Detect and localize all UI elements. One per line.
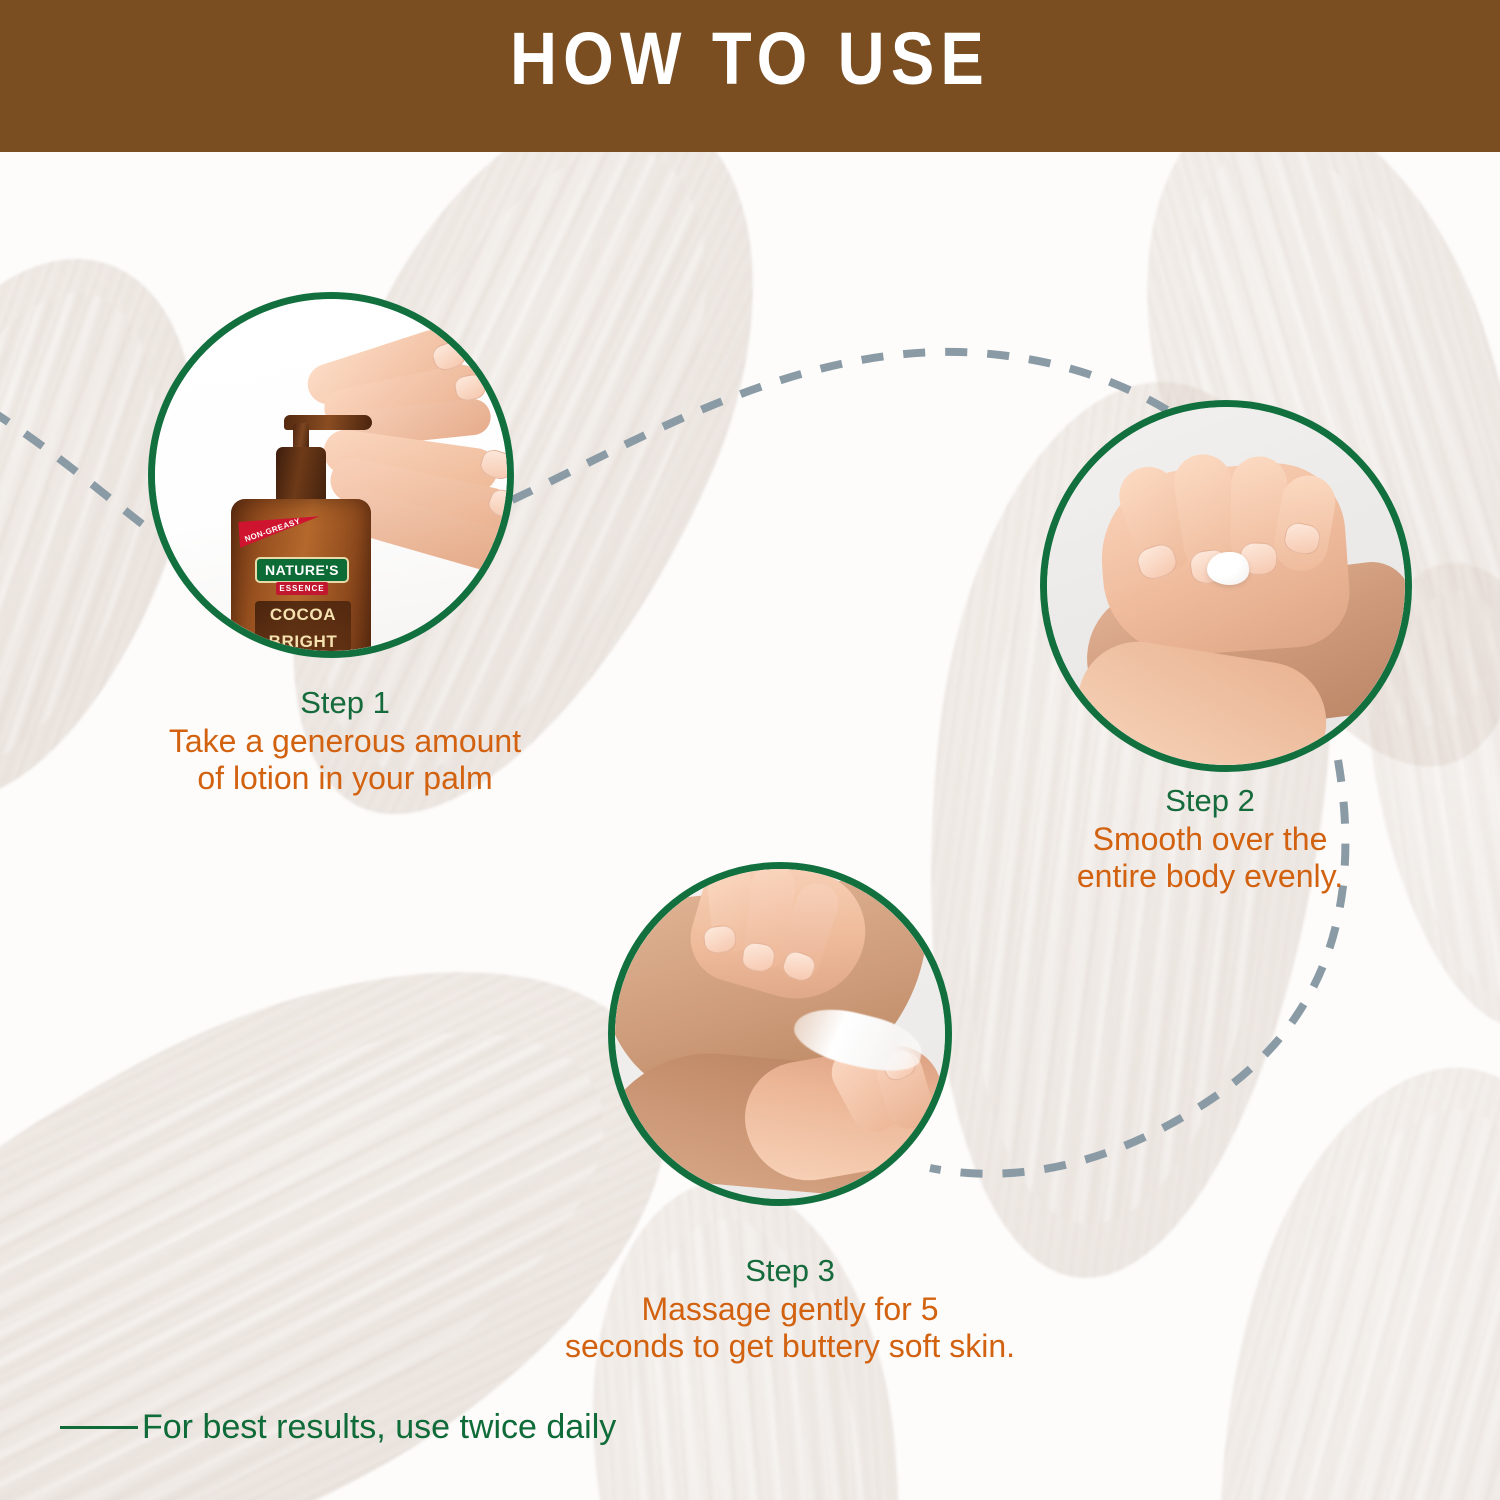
step-3-description-line-1: Massage gently for 5: [540, 1291, 1040, 1328]
step-3-description-line-2: seconds to get buttery soft skin.: [540, 1328, 1040, 1365]
step-1-caption: Step 1 Take a generous amount of lotion …: [110, 685, 580, 797]
step-2-photo: [1047, 407, 1405, 765]
product-name-line-1: COCOA: [255, 601, 351, 628]
step-3-image-circle: [608, 862, 952, 1206]
step-2-description-line-1: Smooth over the: [1020, 821, 1400, 858]
step-1-description-line-1: Take a generous amount: [110, 723, 580, 760]
brand-sub-badge: ESSENCE: [276, 582, 328, 595]
step-2-image-circle: [1040, 400, 1412, 772]
step-2-label: Step 2: [1020, 783, 1400, 819]
step-2-caption: Step 2 Smooth over the entire body evenl…: [1020, 783, 1400, 895]
step-1-photo: NON-GREASY NATURE'S ESSENCE COCOA BRIGHT…: [155, 299, 507, 651]
footer: For best results, use twice daily: [60, 1408, 616, 1447]
bottle-neck: [276, 447, 326, 505]
footer-rule: [60, 1426, 138, 1429]
fingernail: [453, 373, 487, 403]
step-3-photo: [615, 869, 945, 1199]
header-band: HOW TO USE: [0, 0, 1500, 152]
step-1-description-line-2: of lotion in your palm: [110, 760, 580, 797]
cream-dollop: [1207, 552, 1249, 585]
step-1-image-circle: NON-GREASY NATURE'S ESSENCE COCOA BRIGHT…: [148, 292, 514, 658]
step-2-description-line-2: entire body evenly.: [1020, 858, 1400, 895]
step-3-caption: Step 3 Massage gently for 5 seconds to g…: [540, 1253, 1040, 1365]
product-name-line-2: BRIGHT: [255, 628, 351, 651]
brand-sub-label: ESSENCE: [276, 582, 328, 595]
infographic-page: HOW TO USE: [0, 0, 1500, 1500]
step-1-label: Step 1: [110, 685, 580, 721]
step-3-label: Step 3: [540, 1253, 1040, 1289]
page-title: HOW TO USE: [90, 22, 1410, 96]
footer-text: For best results, use twice daily: [142, 1408, 616, 1447]
brand-badge: NATURE'S: [255, 557, 349, 583]
product-name-panel: COCOA BRIGHT: [255, 601, 351, 651]
brand-name: NATURE'S: [257, 559, 347, 581]
